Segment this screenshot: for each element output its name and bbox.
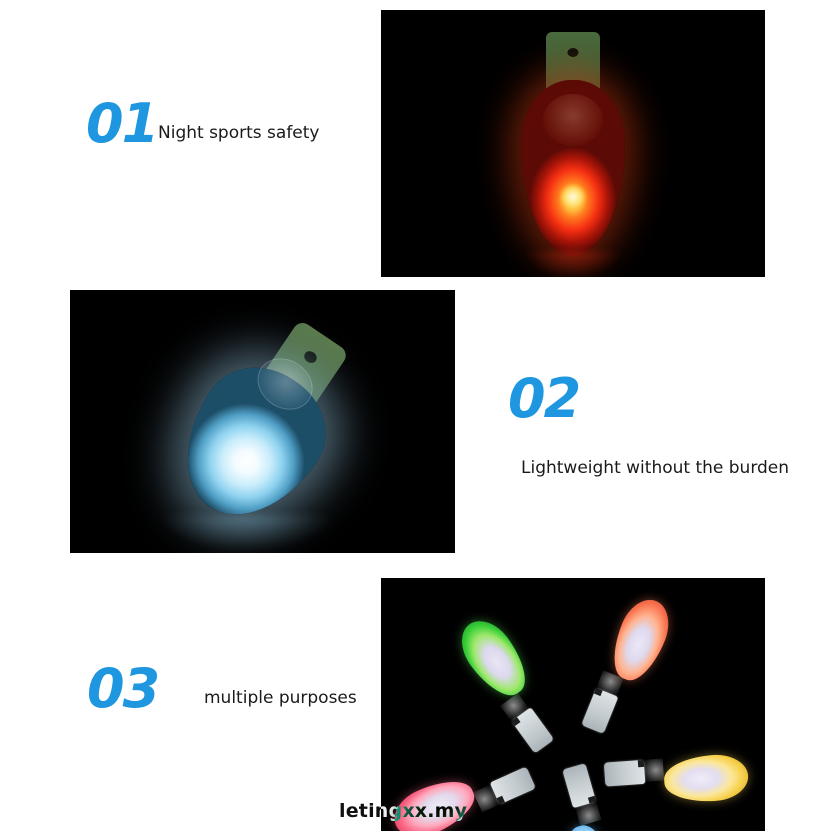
clip-lens bbox=[644, 759, 664, 782]
product-feature-page: 01 Night sports safety 02 Lightweight wi… bbox=[0, 0, 831, 831]
clip-tab bbox=[581, 688, 618, 734]
clip-hole bbox=[301, 349, 318, 365]
clip-lens bbox=[543, 94, 603, 146]
clip-hole bbox=[568, 48, 579, 57]
watermark: letingxx.my bbox=[339, 800, 467, 822]
clip-hole bbox=[638, 760, 644, 767]
clip-hole bbox=[594, 688, 603, 696]
feature-caption-02: Lightweight without the burden bbox=[521, 459, 789, 478]
feature-number-02: 02 bbox=[508, 372, 579, 426]
blue-clip-light bbox=[550, 793, 625, 831]
clip-tab bbox=[490, 766, 536, 804]
clip-body bbox=[451, 611, 538, 706]
red-led-clip-photo bbox=[381, 10, 765, 277]
led-hotspot bbox=[560, 184, 586, 210]
clip-body bbox=[663, 753, 750, 805]
clip-body bbox=[603, 592, 677, 687]
feature-number-01: 01 bbox=[86, 97, 157, 151]
white-led-clip-photo bbox=[70, 290, 455, 553]
red-clip-light bbox=[513, 32, 633, 267]
clip-tab bbox=[562, 763, 596, 808]
feature-caption-03: multiple purposes bbox=[204, 689, 357, 708]
clip-tab bbox=[604, 760, 646, 787]
white-clip-light bbox=[145, 294, 387, 552]
surface-reflection bbox=[162, 515, 332, 549]
feature-number-03: 03 bbox=[87, 662, 158, 716]
orange-clip-light bbox=[593, 592, 678, 713]
color-variants-photo bbox=[381, 578, 765, 831]
feature-caption-01: Night sports safety bbox=[158, 124, 319, 143]
yellow-clip-light bbox=[635, 753, 750, 807]
surface-reflection bbox=[525, 251, 621, 277]
green-clip-light bbox=[451, 611, 554, 729]
